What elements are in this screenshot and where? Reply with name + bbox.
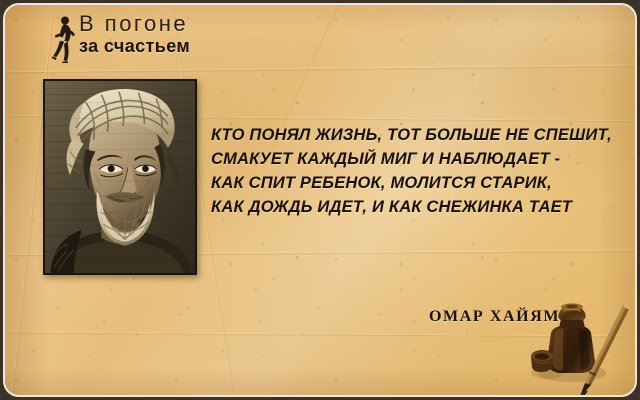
parchment-sheet: В погоне за счастьем: [3, 3, 637, 397]
brand-logo-line2: за счастьем: [79, 37, 190, 55]
quote-line-1: КТО ПОНЯЛ ЖИЗНЬ, ТОТ БОЛЬШЕ НЕ СПЕШИТ,: [211, 123, 611, 147]
quote-text-block: КТО ПОНЯЛ ЖИЗНЬ, ТОТ БОЛЬШЕ НЕ СПЕШИТ, С…: [211, 123, 611, 219]
inkwell-pen-illustration: [525, 287, 637, 397]
quote-card: В погоне за счастьем: [0, 0, 640, 400]
brand-logo-words: В погоне за счастьем: [79, 13, 190, 55]
author-portrait: [43, 79, 197, 275]
quote-line-4: КАК ДОЖДЬ ИДЕТ, И КАК СНЕЖИНКА ТАЕТ: [211, 195, 611, 219]
inkwell-and-pen-decoration: [525, 287, 637, 397]
quote-line-3: КАК СПИТ РЕБЕНОК, МОЛИТСЯ СТАРИК,: [211, 171, 611, 195]
brand-logo-line1: В погоне: [79, 13, 190, 35]
running-person-icon: [51, 15, 77, 63]
brand-logo: В погоне за счастьем: [51, 13, 190, 63]
portrait-engraving: [45, 81, 195, 273]
quote-line-2: СМАКУЕТ КАЖДЫЙ МИГ И НАБЛЮДАЕТ -: [211, 147, 611, 171]
